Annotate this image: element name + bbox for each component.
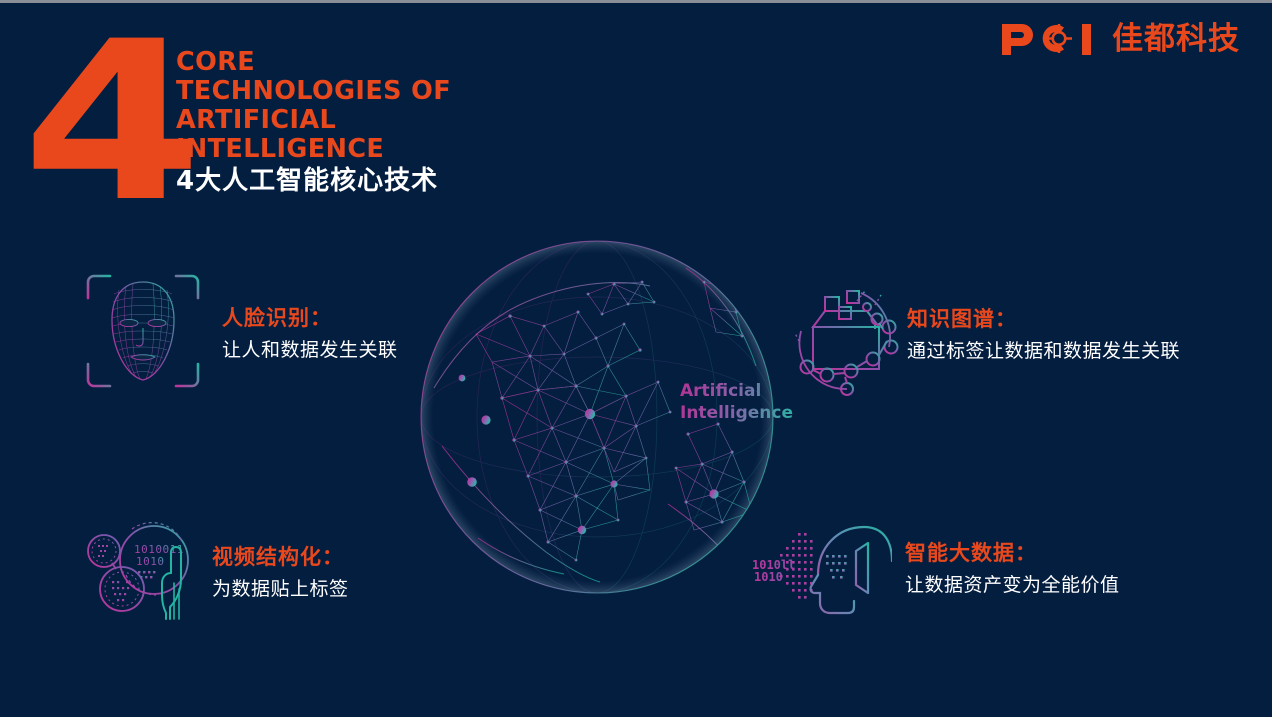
logo-company-name: 佳都科技 <box>1112 24 1240 55</box>
headline-en-line-3: ARTIFICIAL <box>176 106 476 135</box>
feature-face-title: 人脸识别： <box>222 306 398 331</box>
feature-face-text: 人脸识别： 让人和数据发生关联 <box>222 306 398 363</box>
database-nodes-icon <box>795 285 903 402</box>
feature-video-title: 视频结构化： <box>212 545 349 570</box>
svg-text:1010: 1010 <box>136 555 165 568</box>
slide-canvas: 佳都科技 4 CORE TECHNOLOGIES OF ARTIFICIAL I… <box>0 0 1272 717</box>
feature-video-text: 视频结构化： 为数据贴上标签 <box>212 545 349 602</box>
big-number-4: 4 <box>22 12 193 232</box>
feature-kg-title: 知识图谱： <box>907 307 1180 332</box>
pci-logo: 佳都科技 <box>1000 22 1240 56</box>
headline-en-line-1: CORE <box>176 48 476 77</box>
svg-text:1010: 1010 <box>754 570 783 584</box>
feature-bigdata-title: 智能大数据： <box>905 541 1120 566</box>
feature-kg-desc: 通过标签让数据和数据发生关联 <box>907 340 1180 364</box>
feature-face-desc: 让人和数据发生关联 <box>222 339 398 363</box>
headline-cn: 4大人工智能核心技术 <box>176 167 476 196</box>
headline-en-line-4: INTELLIGENCE <box>176 135 476 164</box>
globe-ai-label: Artificial Intelligence <box>680 380 793 424</box>
headline-en-line-2: TECHNOLOGIES OF <box>176 77 476 106</box>
wireframe-face-scan-icon <box>84 272 202 395</box>
binary-circles-hand-icon: 1010011 1010 <box>82 513 202 626</box>
feature-bigdata-desc: 让数据资产变为全能价值 <box>905 574 1120 598</box>
pci-wordmark-icon <box>1000 22 1104 56</box>
globe-ai-label-line2: Intelligence <box>680 402 793 424</box>
feature-kg-text: 知识图谱： 通过标签让数据和数据发生关联 <box>907 307 1180 364</box>
head-profile-binary-icon: 1010ll 1010 <box>752 515 892 630</box>
feature-video-desc: 为数据贴上标签 <box>212 578 349 602</box>
feature-bigdata-text: 智能大数据： 让数据资产变为全能价值 <box>905 541 1120 598</box>
globe-ai-label-line1: Artificial <box>680 381 761 401</box>
headline-block: CORE TECHNOLOGIES OF ARTIFICIAL INTELLIG… <box>176 48 476 196</box>
